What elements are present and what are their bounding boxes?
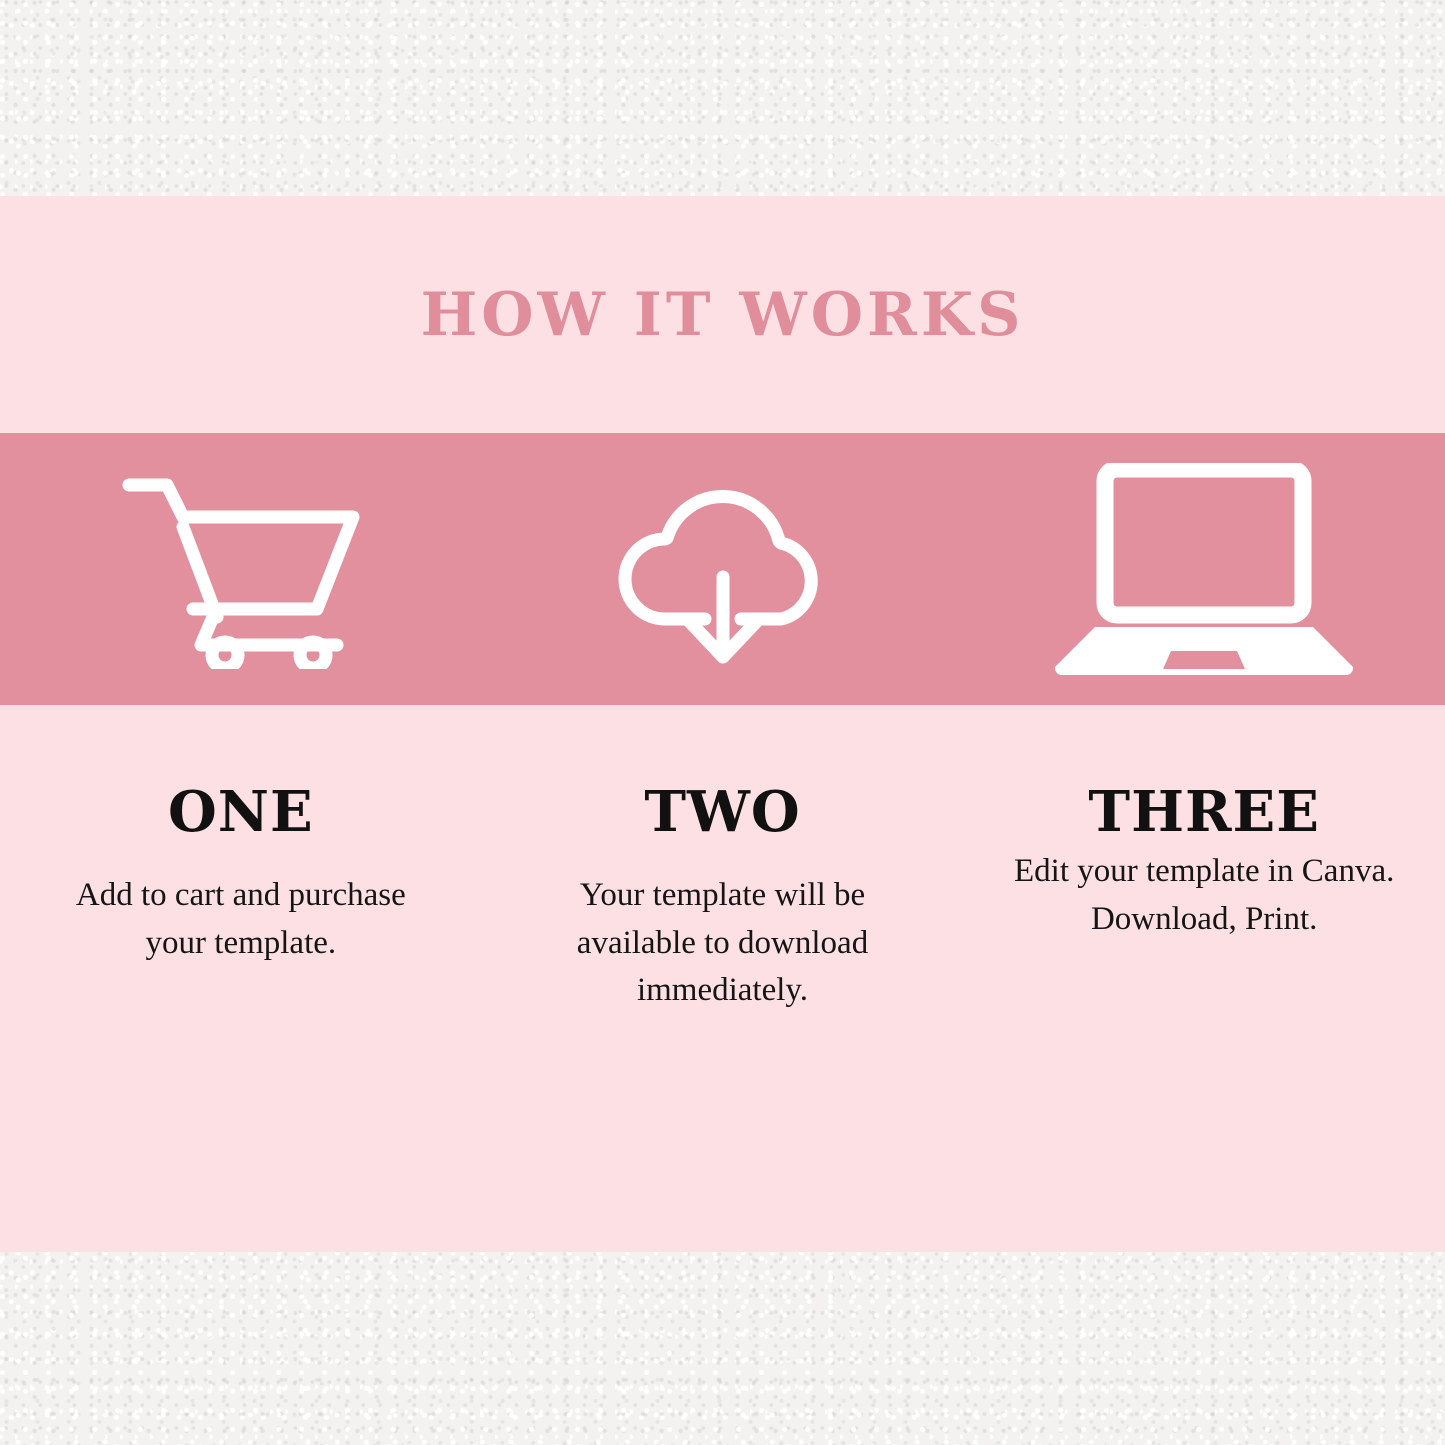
step-two: TWO Your template will be available to d… xyxy=(482,705,964,1015)
step-three: THREE Edit your template in Canva. Downl… xyxy=(963,705,1445,943)
step-one-description: Add to cart and purchase your template. xyxy=(0,872,482,968)
step-two-heading: TWO xyxy=(482,783,964,842)
step-two-description: Your template will be available to downl… xyxy=(482,872,964,1016)
laptop-icon xyxy=(1049,463,1359,675)
icon-cell-three xyxy=(963,433,1445,705)
icon-row xyxy=(0,433,1445,705)
shopping-cart-icon xyxy=(121,469,361,669)
icon-band xyxy=(0,433,1445,705)
icon-cell-one xyxy=(0,433,482,705)
cloud-download-icon xyxy=(617,469,829,669)
step-one: ONE Add to cart and purchase your templa… xyxy=(0,705,482,967)
title-band: HOW IT WORKS xyxy=(0,196,1445,433)
page-title: HOW IT WORKS xyxy=(421,285,1025,345)
icon-cell-two xyxy=(482,433,964,705)
step-one-heading: ONE xyxy=(0,783,482,842)
step-three-description: Edit your template in Canva. Download, P… xyxy=(963,848,1445,944)
steps-row: ONE Add to cart and purchase your templa… xyxy=(0,705,1445,1252)
step-three-heading: THREE xyxy=(963,783,1445,842)
